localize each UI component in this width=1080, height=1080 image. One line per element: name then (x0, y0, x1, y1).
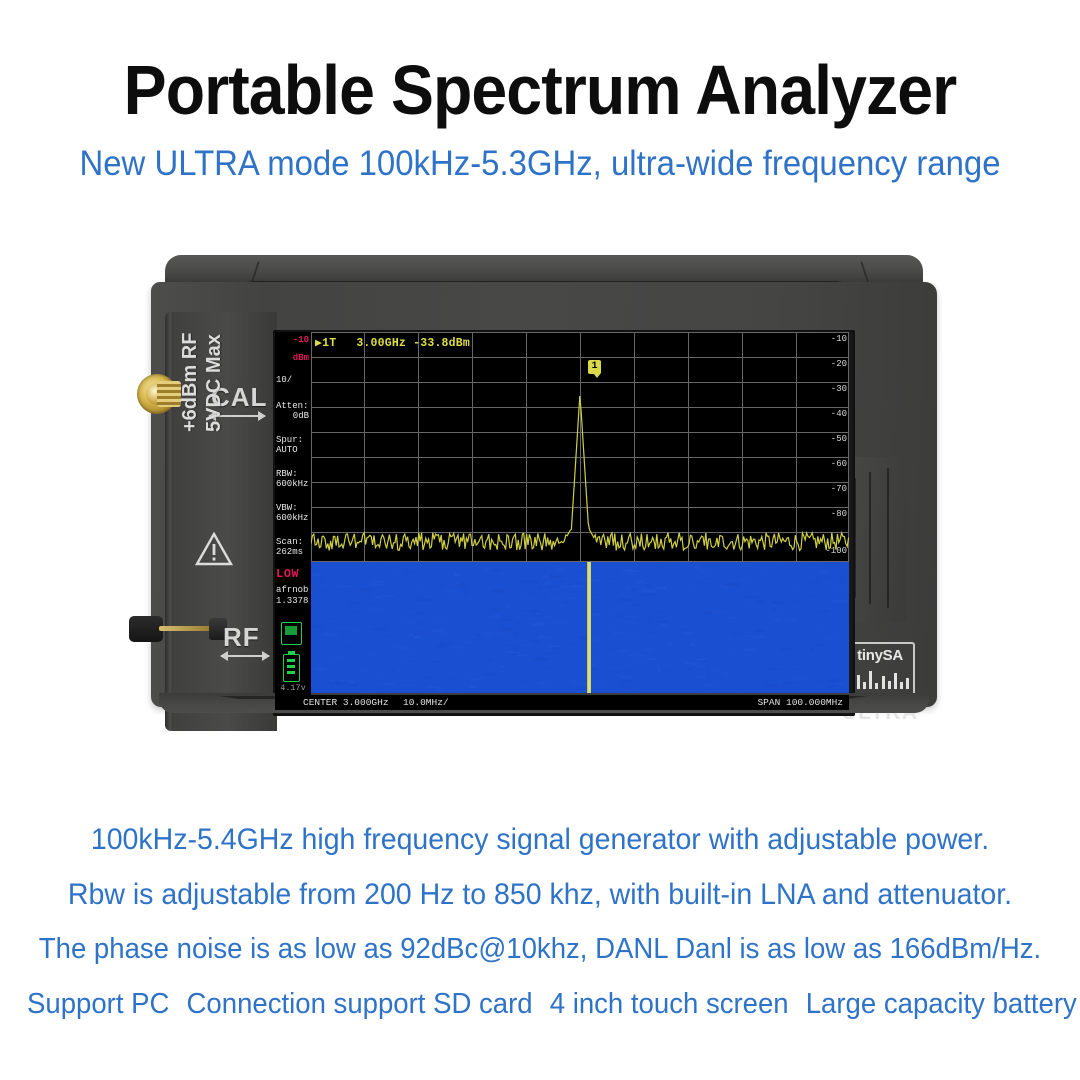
feature-line-1: 100kHz-5.4GHz high frequency signal gene… (27, 812, 1053, 867)
rf-connector-body (129, 616, 163, 642)
warning-text-line2: 5VDC Max (203, 282, 226, 432)
sidebar-spur-value: AUTO (275, 446, 311, 456)
lcd-sidebar: -10 dBm 10/ Atten: 0dB Spur: AUTO RBW: 6… (275, 332, 311, 710)
feature-line-3: The phase noise is as low as 92dBc@10khz… (27, 922, 1053, 977)
marker-1-flag[interactable]: 1 (588, 360, 601, 374)
lcd-header: ▶1T3.00GHz -33.8dBm (315, 335, 470, 348)
spectrum-plot[interactable]: 1 (311, 332, 849, 562)
feature-line-2: Rbw is adjustable from 200 Hz to 850 khz… (27, 867, 1053, 922)
sd-card-icon (281, 622, 302, 645)
db-tick-4: -50 (819, 434, 847, 444)
waterfall-noise (311, 562, 849, 695)
battery-voltage: 4.17v (275, 684, 311, 694)
lcd-screen[interactable]: -10 dBm 10/ Atten: 0dB Spur: AUTO RBW: 6… (275, 332, 849, 710)
sidebar-mode-value: 1.3378 (275, 597, 311, 607)
warning-text-line1: +6dBm RF (179, 282, 202, 432)
waterfall-signal-line (587, 562, 591, 695)
sidebar-ref-unit: dBm (275, 354, 311, 364)
db-tick-7: -80 (819, 509, 847, 519)
headline-block: Portable Spectrum Analyzer New ULTRA mod… (0, 52, 1080, 184)
rf-arrow-icon (221, 655, 269, 657)
header-level: -33.8dBm (413, 337, 470, 350)
battery-icon (283, 654, 300, 682)
device-left-edge (165, 312, 171, 731)
feature-tag-3: 4 inch touch screen (550, 988, 789, 1020)
db-tick-1: -20 (819, 359, 847, 369)
header-frequency: 3.00GHz (356, 337, 406, 350)
device-body: CAL +6dBm RF 5VDC Max RF tinySA (151, 282, 937, 707)
vent-groove-2 (869, 472, 871, 604)
sidebar-scale: 10/ (275, 376, 311, 386)
feature-list: 100kHz-5.4GHz high frequency signal gene… (0, 812, 1080, 1032)
lcd-bezel: -10 dBm 10/ Atten: 0dB Spur: AUTO RBW: 6… (273, 330, 855, 716)
marker-select-icon: ▶1T (315, 337, 336, 350)
rf-port-label: RF (223, 622, 260, 653)
status-center-frequency: CENTER 3.000GHz (303, 697, 389, 708)
marker-1-label: 1 (588, 360, 601, 374)
sidebar-ref-level: -10 (275, 336, 311, 346)
logo-spectrum-bars-icon (851, 669, 909, 689)
db-tick-5: -60 (819, 459, 847, 469)
warning-triangle-icon (195, 532, 233, 566)
waterfall-display[interactable] (311, 562, 849, 695)
db-axis-labels: -10 -20 -30 -40 -50 -60 -70 -80 -100 (818, 332, 848, 562)
lcd-status-bar: CENTER 3.000GHz 10.0MHz/ SPAN 100.000MHz (275, 695, 849, 710)
device-photo: CAL +6dBm RF 5VDC Max RF tinySA (143, 255, 943, 725)
sidebar-mode: LOW (275, 570, 311, 580)
status-per-division: 10.0MHz/ (403, 697, 449, 708)
db-tick-2: -30 (819, 384, 847, 394)
page-title: Portable Spectrum Analyzer (43, 52, 1037, 128)
logo-box-icon: tinySA (845, 642, 915, 696)
sidebar-rbw-value: 600kHz (275, 480, 311, 490)
sidebar-vbw-value: 600kHz (275, 514, 311, 524)
db-tick-0: -10 (819, 334, 847, 344)
spectrum-trace (311, 332, 849, 562)
feature-tag-4: Large capacity battery (806, 988, 1077, 1020)
status-span: SPAN 100.000MHz (757, 697, 843, 708)
feature-tag-1: Support PC (27, 988, 169, 1020)
db-tick-6: -70 (819, 484, 847, 494)
page-subtitle: New ULTRA mode 100kHz-5.3GHz, ultra-wide… (32, 144, 1047, 184)
db-tick-3: -40 (819, 409, 847, 419)
feature-tag-2: Connection support SD card (187, 988, 533, 1020)
db-tick-8: -100 (819, 546, 847, 556)
sidebar-atten-value: 0dB (275, 412, 311, 422)
sidebar-scan-value: 262ms (275, 548, 311, 558)
cal-connector-thread (157, 381, 181, 407)
sidebar-mode-sub: afrnob (275, 586, 311, 596)
vent-groove-3 (887, 468, 889, 608)
brand-name: tinySA (847, 647, 913, 664)
feature-tag-row: Support PCConnection support SD card4 in… (27, 977, 1053, 1032)
